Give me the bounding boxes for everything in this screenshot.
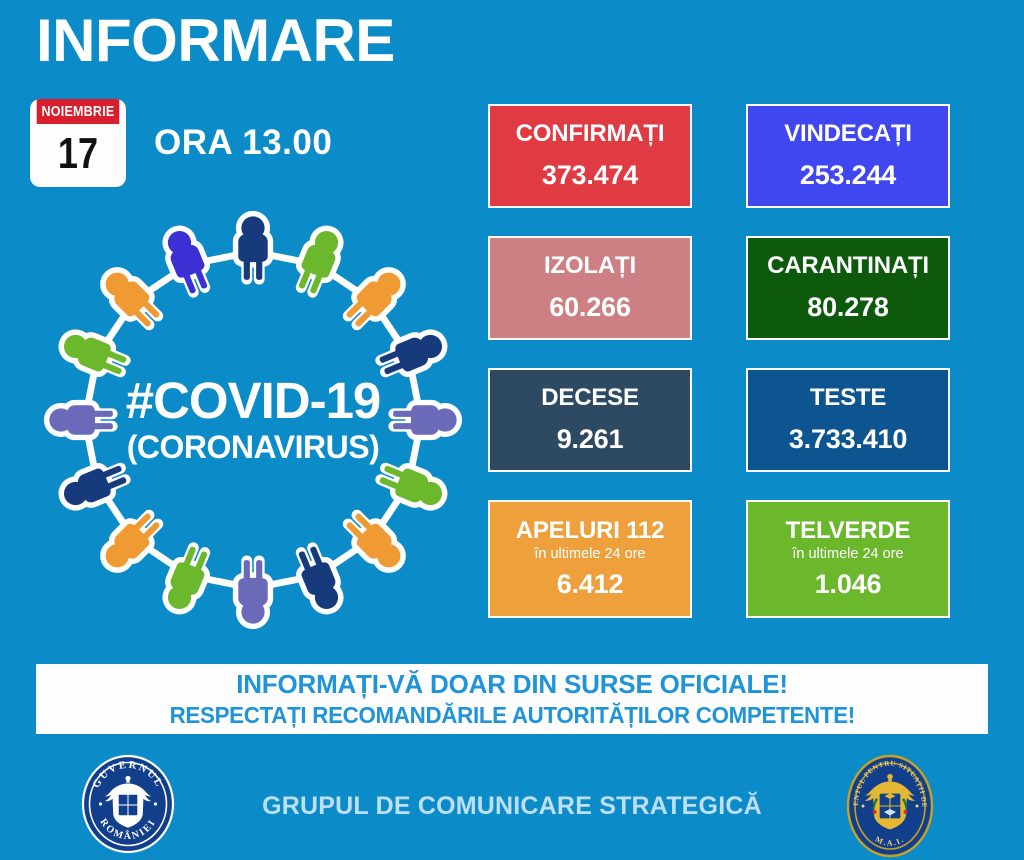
calendar-month-label: NOIEMBRIE: [37, 99, 120, 124]
banner-line-1: INFORMAȚI-VĂ DOAR DIN SURSE OFICIALE!: [236, 670, 788, 700]
stat-value: 3.733.410: [789, 424, 907, 455]
stat-sublabel: în ultimele 24 ore: [792, 546, 903, 563]
stat-value: 60.266: [549, 292, 630, 323]
stat-value: 9.261: [557, 424, 624, 455]
stat-label: DECESE: [541, 385, 639, 411]
stat-card-teste: TESTE 3.733.410: [746, 368, 950, 472]
stat-value: 80.278: [807, 292, 888, 323]
stat-card-telverde: TELVERDE în ultimele 24 ore 1.046: [746, 500, 950, 618]
page-title: INFORMARE: [36, 6, 395, 75]
official-sources-banner: INFORMAȚI-VĂ DOAR DIN SURSE OFICIALE! RE…: [36, 664, 988, 734]
people-distancing-circle-icon: #COVID-19 (CORONAVIRUS): [28, 205, 478, 635]
stat-value: 6.412: [557, 569, 624, 600]
stat-label: IZOLAȚI: [544, 253, 636, 279]
date-time-row: NOIEMBRIE 17 ORA 13.00: [30, 99, 332, 187]
stat-value: 373.474: [542, 160, 638, 191]
stat-label: CONFIRMAȚI: [516, 121, 665, 147]
stat-label: TELVERDE: [786, 518, 911, 544]
calendar-day-label: 17: [39, 124, 118, 187]
stat-label: VINDECAȚI: [784, 121, 912, 147]
stat-value: 1.046: [815, 569, 882, 600]
stat-card-confirmati: CONFIRMAȚI 373.474: [488, 104, 692, 208]
stat-card-apeluri-112: APELURI 112 în ultimele 24 ore 6.412: [488, 500, 692, 618]
footer: GRUPUL DE COMUNICARE STRATEGICĂ GUVERNUL…: [0, 752, 1024, 860]
government-of-romania-seal-icon: GUVERNUL ROMÂNIEI: [80, 754, 176, 854]
stat-card-vindecati: VINDECAȚI 253.244: [746, 104, 950, 208]
stat-sublabel: în ultimele 24 ore: [534, 546, 645, 563]
time-label: ORA 13.00: [154, 123, 332, 163]
stat-label: TESTE: [810, 385, 886, 411]
stat-card-decese: DECESE 9.261: [488, 368, 692, 472]
people-ring: [49, 216, 456, 623]
calendar-icon: NOIEMBRIE 17: [30, 99, 126, 187]
stat-label: APELURI 112: [516, 518, 665, 544]
stat-card-izolati: IZOLAȚI 60.266: [488, 236, 692, 340]
stat-card-carantinati: CARANTINAȚI 80.278: [746, 236, 950, 340]
stat-label: CARANTINAȚI: [767, 253, 929, 279]
emergency-situations-department-seal-icon: DEPARTAMENTUL PENTRU SITUAȚII DE URGENȚĂ…: [832, 754, 948, 858]
statistics-grid: CONFIRMAȚI 373.474 VINDECAȚI 253.244 IZO…: [488, 104, 954, 618]
banner-line-2: RESPECTAȚI RECOMANDĂRILE AUTORITĂȚILOR C…: [169, 702, 854, 728]
stat-value: 253.244: [800, 160, 896, 191]
